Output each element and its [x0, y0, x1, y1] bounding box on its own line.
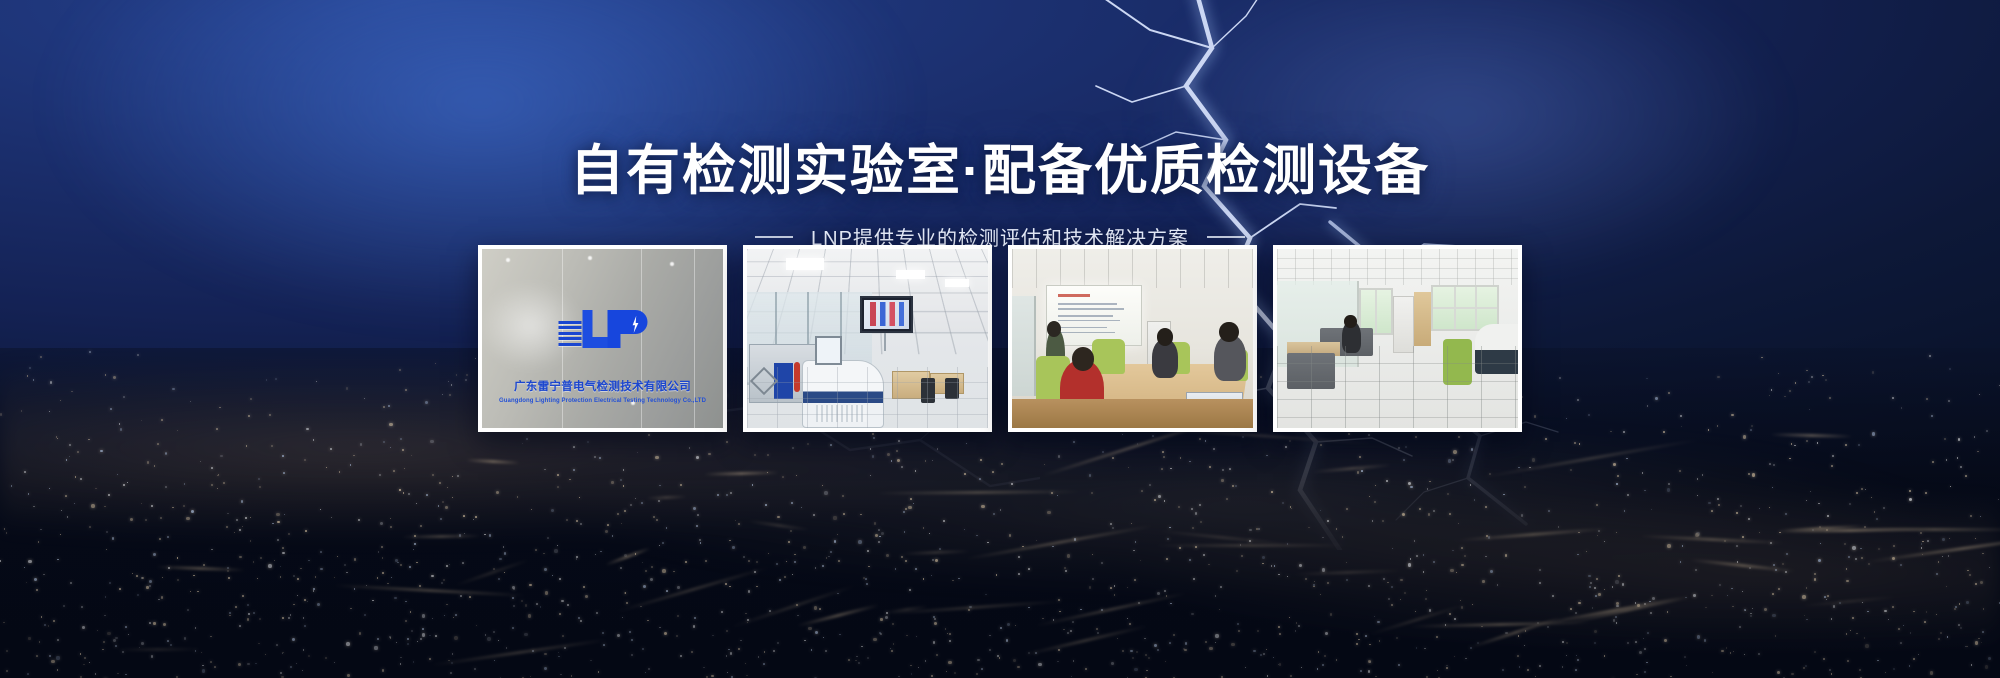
meeting-room-door: [1012, 296, 1036, 396]
attendee-head: [1157, 328, 1174, 346]
photo-office-area: [1277, 249, 1518, 428]
wall-mounted-tv: [860, 296, 913, 334]
wooden-shelf: [1414, 292, 1431, 346]
logo-letter-p-icon: [607, 310, 647, 348]
logo-letter-l-icon: [582, 310, 608, 348]
signage-english-name: Guangdong Lighting Protection Electrical…: [499, 398, 706, 404]
photo-testing-laboratory: [747, 249, 988, 428]
ceiling-panel-light: [786, 258, 825, 271]
ceiling-spot: [588, 256, 592, 260]
photo-company-signage: 广东雷宁普电气检测技术有限公司 Guangdong Lighting Prote…: [482, 249, 723, 428]
photo-gallery: 广东雷宁普电气检测技术有限公司 Guangdong Lighting Prote…: [0, 245, 2000, 437]
gallery-card-company-signage[interactable]: 广东雷宁普电气检测技术有限公司 Guangdong Lighting Prote…: [478, 245, 727, 432]
lnp-logo-icon: [558, 310, 647, 348]
ceiling-panel-light: [896, 270, 925, 279]
lightning-bolt-icon: [631, 316, 640, 333]
logo-bars-icon: [558, 321, 581, 348]
ceiling-spot: [506, 258, 510, 262]
photo-meeting-room: [1012, 249, 1253, 428]
meeting-ceiling: [1012, 249, 1253, 288]
office-worker-head: [1344, 315, 1356, 328]
attendee-head: [1219, 322, 1238, 342]
dash-left-icon: [755, 236, 793, 238]
ceiling-spot: [670, 262, 674, 266]
lab-floor: [747, 367, 988, 428]
gallery-card-testing-laboratory[interactable]: [743, 245, 992, 432]
gallery-card-meeting-room[interactable]: [1008, 245, 1257, 432]
storage-cabinet: [1393, 296, 1415, 353]
presenter-head: [1047, 321, 1061, 337]
office-floor: [1277, 346, 1518, 428]
hero-banner: 自有检测实验室·配备优质检测设备 LNP提供专业的检测评估和技术解决方案: [0, 0, 2000, 678]
dash-right-icon: [1207, 236, 1245, 238]
gallery-card-office-area[interactable]: [1273, 245, 1522, 432]
office-ceiling: [1277, 249, 1518, 285]
tv-mount: [884, 333, 886, 351]
signage-chinese-name: 广东雷宁普电气检测技术有限公司: [514, 378, 691, 394]
console-monitor: [815, 336, 842, 365]
ceiling-panel-light: [945, 279, 969, 286]
attendee-head: [1072, 347, 1094, 370]
page-title: 自有检测实验室·配备优质检测设备: [0, 144, 2000, 198]
meeting-room-floor: [1012, 399, 1253, 428]
